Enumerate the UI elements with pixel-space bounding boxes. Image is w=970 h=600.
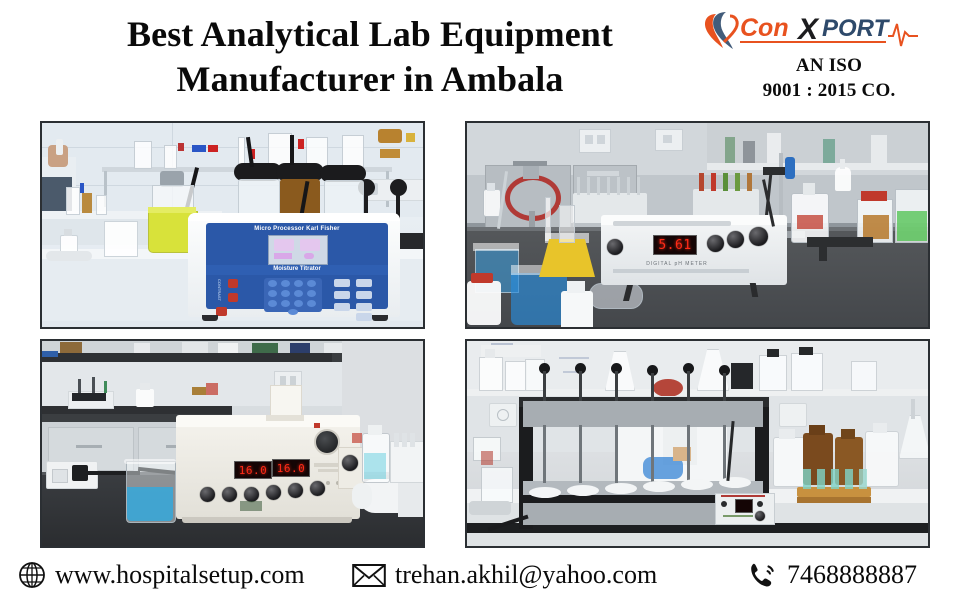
iso-line-1: AN ISO (700, 54, 958, 77)
photo-flocculator-jar-test[interactable] (465, 339, 930, 548)
flocculator-display (735, 499, 753, 513)
ph-display: 5.61 (653, 235, 697, 255)
photo-karl-fisher-titrator[interactable]: Micro Processor Karl Fisher Moisture Tit… (40, 121, 425, 329)
logo-text-port: PORT (822, 15, 891, 42)
conxport-logo: Con X PORT (700, 6, 958, 52)
instrument-title-label: Micro Processor Karl Fisher (206, 226, 388, 232)
scene-ph-meter: 5.61 DIGITAL pH METER (467, 123, 928, 327)
footer-email[interactable]: trehan.akhil@yahoo.com (352, 550, 657, 600)
heart-pulse-icon (705, 12, 737, 49)
footer-contact-bar: www.hospitalsetup.com trehan.akhil@yahoo… (0, 550, 970, 600)
globe-icon (18, 561, 46, 589)
product-gallery: Micro Processor Karl Fisher Moisture Tit… (0, 118, 970, 550)
email-text: trehan.akhil@yahoo.com (395, 560, 657, 590)
photo-digital-ph-meter[interactable]: 5.61 DIGITAL pH METER (465, 121, 930, 329)
poster-page: Best Analytical Lab Equipment Manufactur… (0, 0, 970, 600)
page-title: Best Analytical Lab Equipment Manufactur… (40, 12, 700, 101)
photometer-display-left: 16.0 (234, 461, 272, 479)
envelope-icon (352, 562, 386, 588)
photo-flame-photometer[interactable]: 16.0 16.0 (40, 339, 425, 548)
pulse-line-icon (888, 24, 918, 46)
ph-meter-label: DIGITAL pH METER (617, 261, 737, 267)
website-text: www.hospitalsetup.com (55, 560, 305, 590)
photometer-display-right: 16.0 (272, 459, 310, 477)
scene-karl-fisher: Micro Processor Karl Fisher Moisture Tit… (42, 123, 423, 327)
scene-flame-photometer: 16.0 16.0 (42, 341, 423, 546)
logo-text-con: Con (740, 14, 789, 42)
scene-flocculator (467, 341, 928, 546)
instrument-subtitle-label: Moisture Titrator (206, 266, 388, 272)
header: Best Analytical Lab Equipment Manufactur… (0, 0, 970, 118)
logo-artwork: Con X PORT (700, 6, 958, 52)
iso-line-2: 9001 : 2015 CO. (700, 79, 958, 102)
footer-website[interactable]: www.hospitalsetup.com (18, 550, 305, 600)
phone-icon (748, 560, 778, 590)
phone-text: 7468888887 (787, 560, 917, 590)
brand-block: Con X PORT AN ISO 9001 : 2015 CO. (700, 6, 958, 102)
footer-phone[interactable]: 7468888887 (748, 550, 917, 600)
title-line-1: Best Analytical Lab Equipment (40, 12, 700, 56)
title-line-2: Manufacturer in Ambala (40, 57, 700, 101)
